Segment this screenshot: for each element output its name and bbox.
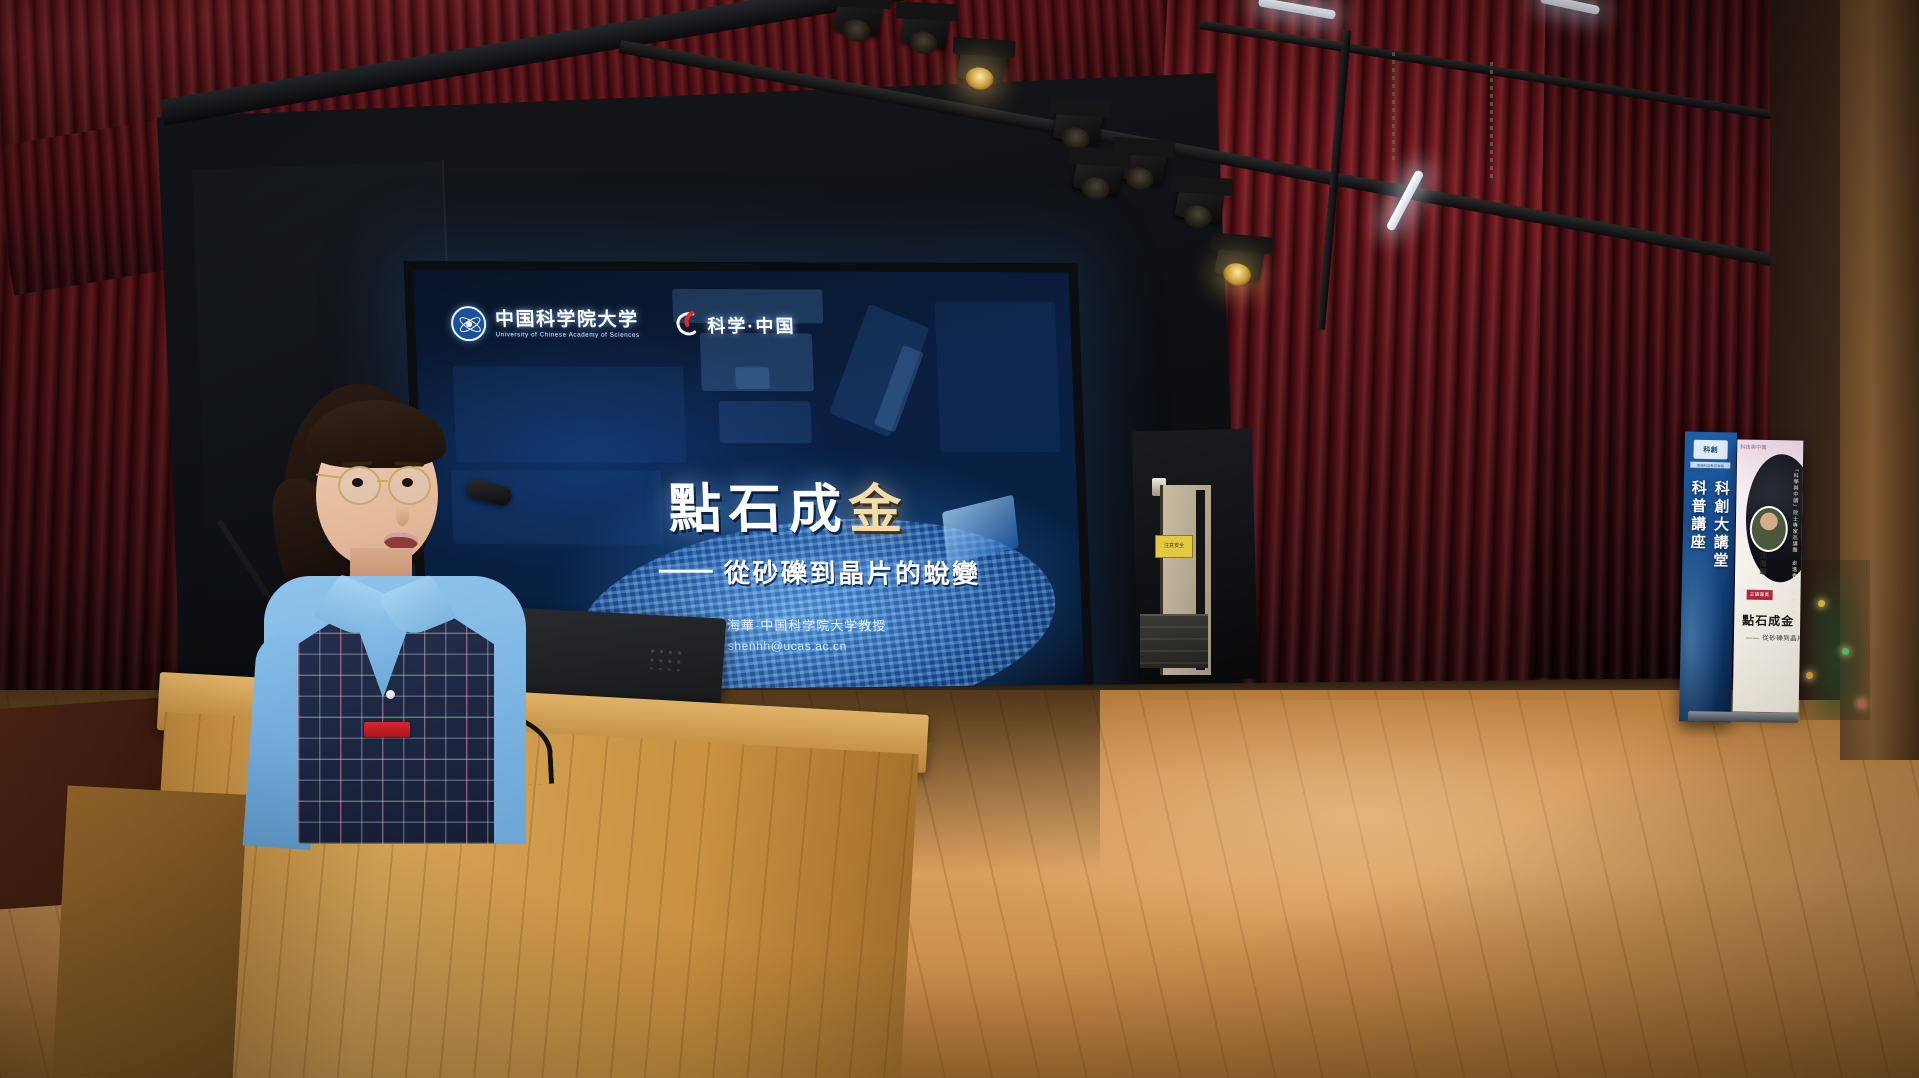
banner-lecture-title: 點石成金 (1742, 612, 1794, 630)
equipment-crate (1140, 614, 1208, 668)
banner-speaker-name: 沈海華 (1757, 552, 1767, 576)
barn-door-icon (896, 1, 959, 21)
stage-light-fixture (900, 8, 951, 49)
ucas-name-cn: 中国科学院大学 (495, 309, 640, 331)
truss-chain (1490, 62, 1493, 182)
subtitle-dash-icon (659, 570, 713, 573)
banner-base-stand (1688, 711, 1798, 723)
banner-speaker-tag: 主講嘉賓 (1747, 590, 1773, 600)
atom-logo-icon (450, 306, 486, 341)
presenter (246, 370, 546, 840)
sc-swirl-icon (673, 309, 700, 339)
banner-white-header: 科技與中國 (1740, 443, 1767, 450)
nose (396, 506, 409, 526)
slide-title: 點石成金 (667, 467, 910, 544)
rollup-banner-blue: 科創 香港科創教育聯盟 科創大講堂 科普講座 (1679, 431, 1737, 722)
ornament-light (1806, 672, 1813, 679)
banner-white-side-text: 「科學與中國」院士專家巡講團 走進香港「科創大講堂」 (1788, 466, 1799, 628)
banner-logo-subtitle: 香港科創教育聯盟 (1690, 462, 1730, 469)
banner-blue-line2: 科普講座 (1686, 480, 1709, 570)
banner-blue-line1: 科創大講堂 (1709, 480, 1732, 570)
podium-side-panel (53, 785, 248, 1078)
name-badge (364, 722, 410, 737)
laptop-speaker-grille (647, 647, 682, 671)
eye-left (352, 478, 363, 487)
ornament-light (1842, 648, 1849, 655)
glasses-bridge (377, 480, 388, 482)
christmas-decoration (1800, 560, 1870, 720)
science-china-name: 科学·中国 (707, 312, 796, 338)
door-warning-sign: 注意安全 (1155, 535, 1193, 558)
eyebrow-right (394, 461, 424, 467)
eyeglasses (338, 466, 444, 502)
ornament-light (1818, 600, 1825, 607)
slide-speaker-email: shenhh@ucas.ac.cn (727, 639, 847, 653)
eye-right (402, 478, 413, 487)
slide-logo-row: 中国科学院大学 University of Chinese Academy of… (450, 306, 796, 342)
slide-subtitle-text: 從砂礫到晶片的蛻變 (723, 553, 981, 591)
slide-speaker-credit: 沈海華·中国科学院大学教授 (712, 615, 886, 635)
slide-title-accent: 金 (847, 480, 909, 539)
truss-chain (1392, 52, 1395, 160)
banner-lecture-subtitle: —— 從砂礫到晶片的蛻變 (1746, 632, 1804, 643)
ucas-name-en: University of Chinese Academy of Science… (495, 331, 639, 339)
ucas-logo: 中国科学院大学 University of Chinese Academy of… (450, 306, 640, 342)
science-china-logo: 科学·中国 (673, 309, 796, 339)
shirt-button (386, 690, 395, 699)
stage-photo-scene: 中国科学院大学 University of Chinese Academy of… (0, 0, 1919, 1078)
banner-logo: 科創 (1693, 440, 1727, 460)
rollup-banner-white: 科技與中國 「科學與中國」院士專家巡講團 走進香港「科創大講堂」 沈海華 主講嘉… (1733, 439, 1804, 712)
slide-subtitle: 從砂礫到晶片的蛻變 (658, 553, 981, 591)
ornament-light (1858, 700, 1865, 707)
slide-title-main: 點石成 (667, 480, 849, 540)
